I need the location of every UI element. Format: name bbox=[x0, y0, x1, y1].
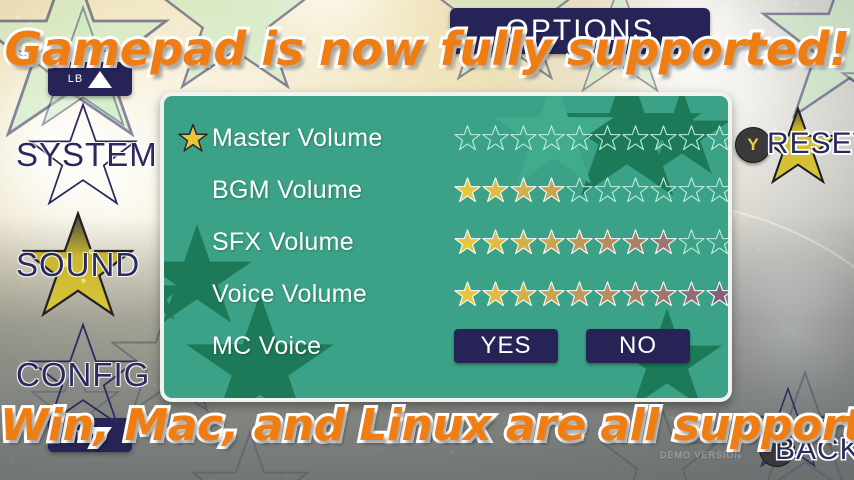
settings-row[interactable]: SFX Volume bbox=[164, 216, 728, 268]
settings-row-label: Voice Volume bbox=[212, 280, 367, 309]
volume-rating[interactable] bbox=[454, 281, 732, 307]
sidebar-item-sound[interactable]: SOUND bbox=[0, 210, 170, 320]
rating-star[interactable] bbox=[454, 281, 481, 307]
rating-star[interactable] bbox=[622, 177, 649, 203]
rating-star[interactable] bbox=[566, 125, 593, 151]
settings-row-label: BGM Volume bbox=[212, 176, 362, 205]
rating-star[interactable] bbox=[482, 177, 509, 203]
rating-star[interactable] bbox=[566, 177, 593, 203]
rating-star[interactable] bbox=[706, 177, 732, 203]
choice-button-yes[interactable]: YES bbox=[454, 329, 558, 363]
settings-row-control[interactable] bbox=[454, 281, 732, 307]
rating-star[interactable] bbox=[594, 125, 621, 151]
reset-label: RESET bbox=[767, 127, 854, 161]
settings-row-label: Master Volume bbox=[212, 124, 383, 153]
watermark: DEMO VERSION bbox=[660, 450, 742, 460]
volume-rating[interactable] bbox=[454, 125, 732, 151]
selection-cursor-star-icon bbox=[178, 124, 208, 153]
sidebar-item-system[interactable]: SYSTEM bbox=[0, 100, 170, 210]
rating-star[interactable] bbox=[706, 125, 732, 151]
rating-star[interactable] bbox=[482, 125, 509, 151]
rating-star[interactable] bbox=[650, 281, 677, 307]
rating-star[interactable] bbox=[678, 281, 705, 307]
rating-star[interactable] bbox=[566, 229, 593, 255]
rating-star[interactable] bbox=[538, 281, 565, 307]
rating-star[interactable] bbox=[594, 229, 621, 255]
settings-row-control[interactable] bbox=[454, 125, 732, 151]
rating-star[interactable] bbox=[538, 229, 565, 255]
settings-row[interactable]: Master Volume bbox=[164, 112, 728, 164]
rating-star[interactable] bbox=[510, 229, 537, 255]
rating-star[interactable] bbox=[538, 177, 565, 203]
sidebar-item-label: CONFIG bbox=[16, 356, 150, 394]
sidebar-item-label: SOUND bbox=[16, 246, 140, 284]
choice-button-no[interactable]: NO bbox=[586, 329, 690, 363]
settings-row-control[interactable] bbox=[454, 177, 732, 203]
promo-banner-bottom: Win, Mac, and Linux are all supported! bbox=[0, 400, 854, 451]
rating-star[interactable] bbox=[482, 281, 509, 307]
rating-star[interactable] bbox=[510, 125, 537, 151]
rating-star[interactable] bbox=[622, 281, 649, 307]
rating-star[interactable] bbox=[678, 229, 705, 255]
gamepad-y-button-label: Y bbox=[747, 135, 758, 155]
rating-star[interactable] bbox=[594, 177, 621, 203]
settings-row[interactable]: MC VoiceYESNO bbox=[164, 320, 728, 372]
settings-row-label: MC Voice bbox=[212, 332, 321, 361]
rating-star[interactable] bbox=[566, 281, 593, 307]
game-options-screen: SYSTEM SOUND bbox=[0, 0, 854, 480]
rating-star[interactable] bbox=[650, 177, 677, 203]
choice-group[interactable]: YESNO bbox=[454, 329, 690, 363]
rating-star[interactable] bbox=[650, 229, 677, 255]
settings-row[interactable]: Voice Volume bbox=[164, 268, 728, 320]
promo-banner-bottom-text: Win, Mac, and Linux are all supported! bbox=[0, 400, 854, 451]
rating-star[interactable] bbox=[622, 229, 649, 255]
rating-star[interactable] bbox=[510, 177, 537, 203]
rating-star[interactable] bbox=[454, 125, 481, 151]
reset-action[interactable]: Y RESET bbox=[735, 105, 854, 185]
rating-star[interactable] bbox=[510, 281, 537, 307]
rating-star[interactable] bbox=[678, 177, 705, 203]
rating-star[interactable] bbox=[678, 125, 705, 151]
settings-row[interactable]: BGM Volume bbox=[164, 164, 728, 216]
sound-settings-panel: Master VolumeBGM VolumeSFX VolumeVoice V… bbox=[160, 92, 732, 402]
rating-star[interactable] bbox=[454, 229, 481, 255]
volume-rating[interactable] bbox=[454, 177, 732, 203]
rating-star[interactable] bbox=[706, 229, 732, 255]
rating-star[interactable] bbox=[454, 177, 481, 203]
promo-banner-top-text: Gamepad is now fully supported! bbox=[4, 22, 849, 76]
settings-row-label: SFX Volume bbox=[212, 228, 354, 257]
promo-banner-top: Gamepad is now fully supported! bbox=[0, 22, 854, 76]
rating-star[interactable] bbox=[594, 281, 621, 307]
rating-star[interactable] bbox=[706, 281, 732, 307]
rating-star[interactable] bbox=[538, 125, 565, 151]
rating-star[interactable] bbox=[622, 125, 649, 151]
sidebar-item-label: SYSTEM bbox=[16, 136, 158, 174]
settings-row-control[interactable]: YESNO bbox=[454, 329, 690, 363]
gamepad-y-button-icon[interactable]: Y bbox=[735, 127, 771, 163]
sidebar-nav: SYSTEM SOUND bbox=[0, 100, 170, 430]
rating-star[interactable] bbox=[650, 125, 677, 151]
settings-row-control[interactable] bbox=[454, 229, 732, 255]
volume-rating[interactable] bbox=[454, 229, 732, 255]
rating-star[interactable] bbox=[482, 229, 509, 255]
settings-rows: Master VolumeBGM VolumeSFX VolumeVoice V… bbox=[164, 96, 728, 372]
